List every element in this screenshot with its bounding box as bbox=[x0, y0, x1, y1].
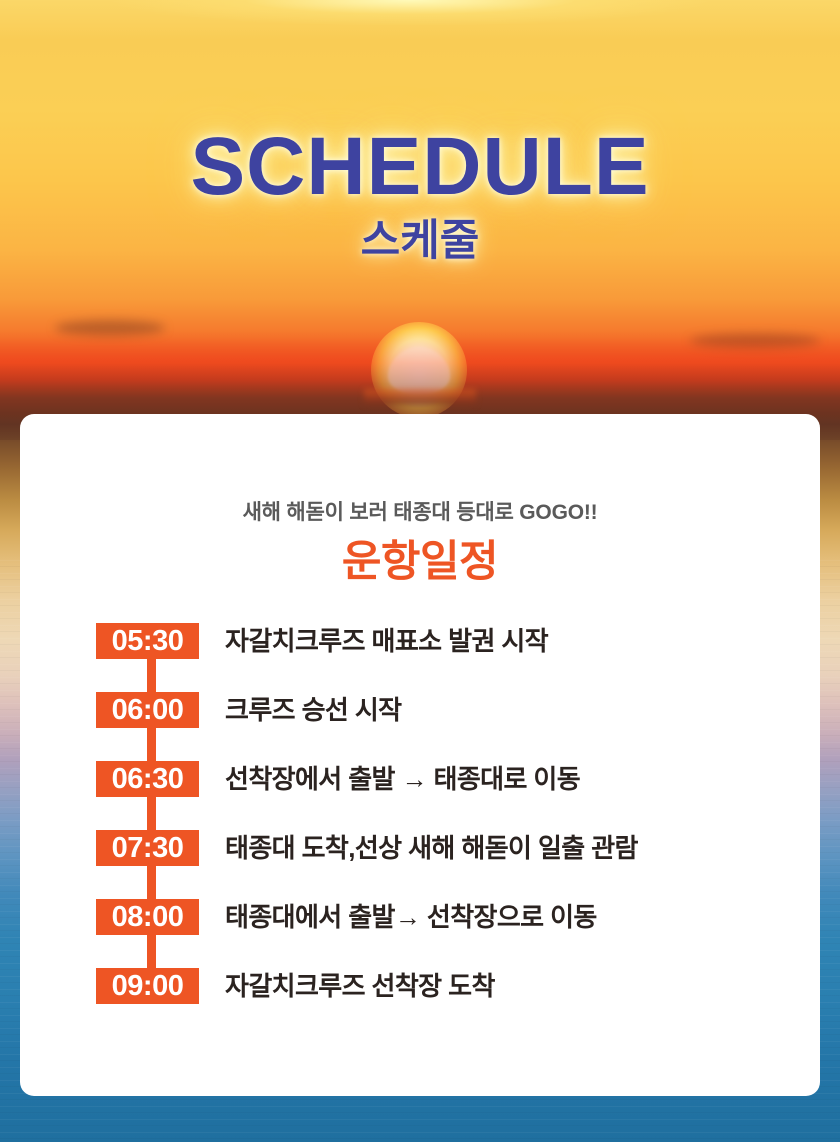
timeline-row: 07:30 태종대 도착,선상 새해 해돋이 일출 관람 bbox=[96, 830, 820, 899]
background-top-glow bbox=[0, 0, 840, 26]
schedule-timeline: 05:30 자갈치크루즈 매표소 발권 시작 06:00 크루즈 승선 시작 0… bbox=[20, 623, 820, 1037]
timeline-row: 05:30 자갈치크루즈 매표소 발권 시작 bbox=[96, 623, 820, 692]
timeline-row: 06:30 선착장에서 출발 → 태종대로 이동 bbox=[96, 761, 820, 830]
card-kicker: 새해 해돋이 보러 태종대 등대로 GOGO!! bbox=[20, 414, 820, 526]
timeline-row-label: 자갈치크루즈 매표소 발권 시작 bbox=[225, 623, 820, 659]
timeline-row-label: 크루즈 승선 시작 bbox=[225, 692, 820, 728]
timeline-row-label: 자갈치크루즈 선착장 도착 bbox=[225, 968, 820, 1004]
timeline-row-label: 태종대 도착,선상 새해 해돋이 일출 관람 bbox=[225, 830, 820, 866]
time-badge: 08:00 bbox=[96, 899, 199, 935]
poster-root: SCHEDULE 스케줄 새해 해돋이 보러 태종대 등대로 GOGO!! 운항… bbox=[0, 0, 840, 1142]
timeline-row: 09:00 자갈치크루즈 선착장 도착 bbox=[96, 968, 820, 1037]
time-badge: 06:30 bbox=[96, 761, 199, 797]
time-badge: 09:00 bbox=[96, 968, 199, 1004]
timeline-row-label: 태종대에서 출발→ 선착장으로 이동 bbox=[225, 899, 820, 935]
time-badge: 06:00 bbox=[96, 692, 199, 728]
time-badge: 05:30 bbox=[96, 623, 199, 659]
sun-horizon-cut bbox=[364, 389, 476, 405]
time-badge: 07:30 bbox=[96, 830, 199, 866]
timeline-row-label: 선착장에서 출발 → 태종대로 이동 bbox=[225, 761, 820, 797]
timeline-row: 06:00 크루즈 승선 시작 bbox=[96, 692, 820, 761]
schedule-card: 새해 해돋이 보러 태종대 등대로 GOGO!! 운항일정 05:30 자갈치크… bbox=[20, 414, 820, 1096]
card-heading: 운항일정 bbox=[20, 526, 820, 585]
timeline-row: 08:00 태종대에서 출발→ 선착장으로 이동 bbox=[96, 899, 820, 968]
